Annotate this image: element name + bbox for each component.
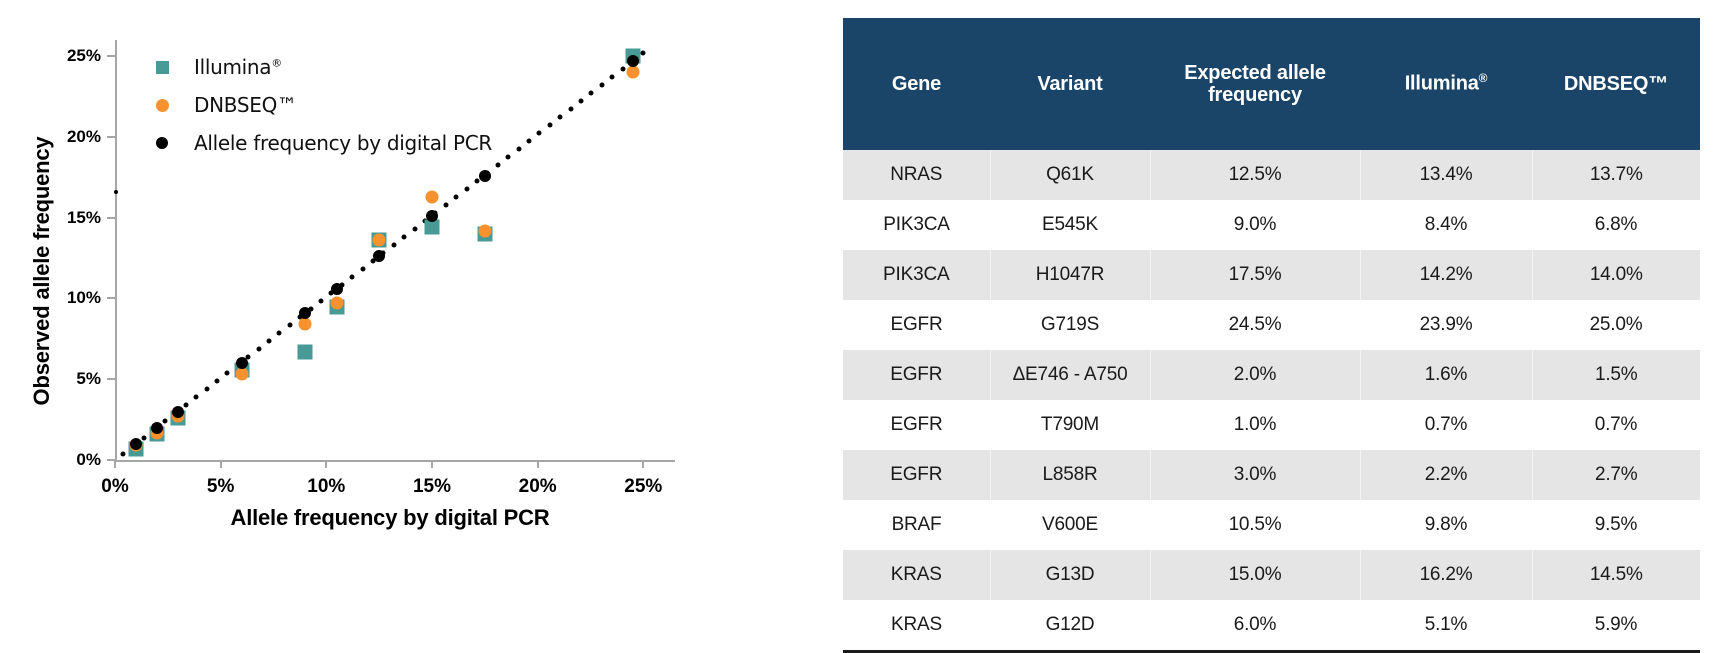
cell-illumina: 14.2% xyxy=(1360,250,1532,300)
trendline-dot xyxy=(516,147,521,152)
cell-dnbseq: 9.5% xyxy=(1532,500,1700,550)
trendline-dot xyxy=(277,331,282,336)
cell-expected: 15.0% xyxy=(1150,550,1360,600)
trendline-dot xyxy=(506,155,511,160)
trendline-dot xyxy=(360,267,365,272)
cell-gene: EGFR xyxy=(843,300,990,350)
cell-expected: 17.5% xyxy=(1150,250,1360,300)
square-marker-icon xyxy=(150,61,174,74)
trendline-dot xyxy=(163,419,168,424)
trendline-dot xyxy=(443,203,448,208)
trendline-dot xyxy=(641,50,646,55)
trendline-dot xyxy=(412,227,417,232)
data-point-square xyxy=(298,344,313,359)
cell-variant: L858R xyxy=(990,450,1150,500)
cell-variant: T790M xyxy=(990,400,1150,450)
table-row: KRASG13D15.0%16.2%14.5% xyxy=(843,550,1700,600)
chart-legend: Illumina® DNBSEQ™ Allele frequency by di… xyxy=(150,48,492,162)
cell-variant: Q61K xyxy=(990,150,1150,200)
column-header-gene: Gene xyxy=(843,18,990,150)
cell-expected: 10.5% xyxy=(1150,500,1360,550)
cell-gene: KRAS xyxy=(843,550,990,600)
table-row: EGFRL858R3.0%2.2%2.7% xyxy=(843,450,1700,500)
trendline-dot xyxy=(526,139,531,144)
table-body: NRASQ61K12.5%13.4%13.7%PIK3CAE545K9.0%8.… xyxy=(843,150,1700,652)
cell-gene: PIK3CA xyxy=(843,200,990,250)
results-table: Gene Variant Expected allelefrequency Il… xyxy=(843,18,1700,653)
trendline-dot xyxy=(287,323,292,328)
cell-gene: BRAF xyxy=(843,500,990,550)
cell-dnbseq: 14.5% xyxy=(1532,550,1700,600)
x-tick-label: 20% xyxy=(519,476,557,498)
data-point-circle xyxy=(478,224,491,237)
scatter-chart: Observed allele frequency Allele frequen… xyxy=(0,0,740,640)
cell-dnbseq: 6.8% xyxy=(1532,200,1700,250)
trendline-dot xyxy=(589,90,594,95)
x-tick-label: 15% xyxy=(413,476,451,498)
y-tick-label: 5% xyxy=(76,369,101,389)
trendline-dot xyxy=(318,299,323,304)
data-point-dot xyxy=(426,210,438,222)
cell-gene: EGFR xyxy=(843,450,990,500)
y-tick xyxy=(107,55,115,57)
y-tick xyxy=(107,378,115,380)
trendline-dot xyxy=(547,123,552,128)
cell-illumina: 1.6% xyxy=(1360,350,1532,400)
cell-dnbseq: 0.7% xyxy=(1532,400,1700,450)
cell-variant: G13D xyxy=(990,550,1150,600)
cell-expected: 1.0% xyxy=(1150,400,1360,450)
legend-label-illumina: Illumina® xyxy=(194,55,282,79)
x-axis-line xyxy=(115,460,675,462)
cell-illumina: 13.4% xyxy=(1360,150,1532,200)
x-tick xyxy=(114,460,116,468)
data-point-dot xyxy=(236,357,248,369)
data-point-circle xyxy=(235,368,248,381)
legend-item-dnbseq: DNBSEQ™ xyxy=(150,86,492,124)
cell-expected: 3.0% xyxy=(1150,450,1360,500)
table-row: NRASQ61K12.5%13.4%13.7% xyxy=(843,150,1700,200)
data-point-dot xyxy=(130,438,142,450)
table-row: BRAFV600E10.5%9.8%9.5% xyxy=(843,500,1700,550)
data-point-dot xyxy=(479,170,491,182)
trendline-dot xyxy=(350,275,355,280)
x-tick-label: 25% xyxy=(624,476,662,498)
table-row: EGFRT790M1.0%0.7%0.7% xyxy=(843,400,1700,450)
y-tick xyxy=(107,136,115,138)
data-point-dot xyxy=(299,307,311,319)
legend-item-illumina: Illumina® xyxy=(150,48,492,86)
x-tick xyxy=(642,460,644,468)
cell-gene: KRAS xyxy=(843,600,990,652)
table-row: PIK3CAE545K9.0%8.4%6.8% xyxy=(843,200,1700,250)
cell-variant: E545K xyxy=(990,200,1150,250)
cell-illumina: 8.4% xyxy=(1360,200,1532,250)
x-tick xyxy=(325,460,327,468)
cell-illumina: 5.1% xyxy=(1360,600,1532,652)
cell-dnbseq: 1.5% xyxy=(1532,350,1700,400)
cell-variant: V600E xyxy=(990,500,1150,550)
trendline-dot xyxy=(256,347,261,352)
cell-expected: 24.5% xyxy=(1150,300,1360,350)
trendline-dot xyxy=(402,235,407,240)
cell-illumina: 16.2% xyxy=(1360,550,1532,600)
cell-expected: 12.5% xyxy=(1150,150,1360,200)
table-row: PIK3CAH1047R17.5%14.2%14.0% xyxy=(843,250,1700,300)
cell-variant: ΔE746 - A750 xyxy=(990,350,1150,400)
data-point-dot xyxy=(627,55,639,67)
data-point-dot xyxy=(373,250,385,262)
data-point-dot xyxy=(172,406,184,418)
x-tick-label: 5% xyxy=(207,476,234,498)
cell-illumina: 9.8% xyxy=(1360,500,1532,550)
y-tick xyxy=(107,297,115,299)
y-tick-label: 25% xyxy=(67,46,101,66)
data-point-circle xyxy=(626,66,639,79)
cell-variant: G12D xyxy=(990,600,1150,652)
y-axis-line xyxy=(115,40,117,462)
cell-expected: 9.0% xyxy=(1150,200,1360,250)
data-point-circle xyxy=(299,318,312,331)
cell-expected: 2.0% xyxy=(1150,350,1360,400)
y-tick-label: 15% xyxy=(67,208,101,228)
y-tick-label: 0% xyxy=(76,450,101,470)
cell-gene: PIK3CA xyxy=(843,250,990,300)
legend-label-digital-pcr: Allele frequency by digital PCR xyxy=(194,131,492,155)
stray-dot xyxy=(114,190,118,194)
trendline-dot xyxy=(610,74,615,79)
cell-illumina: 0.7% xyxy=(1360,400,1532,450)
cell-dnbseq: 25.0% xyxy=(1532,300,1700,350)
trendline-dot xyxy=(204,387,209,392)
column-header-expected-allele-frequency: Expected allelefrequency xyxy=(1150,18,1360,150)
trendline-dot xyxy=(121,451,126,456)
table-header-row: Gene Variant Expected allelefrequency Il… xyxy=(843,18,1700,150)
results-table-panel: Gene Variant Expected allelefrequency Il… xyxy=(843,18,1700,653)
trendline-dot xyxy=(599,82,604,87)
trendline-dot xyxy=(620,66,625,71)
cell-illumina: 23.9% xyxy=(1360,300,1532,350)
y-axis-title: Observed allele frequency xyxy=(29,61,55,481)
x-tick xyxy=(220,460,222,468)
trendline-dot xyxy=(474,179,479,184)
trendline-dot xyxy=(568,107,573,112)
x-tick xyxy=(431,460,433,468)
cell-gene: NRAS xyxy=(843,150,990,200)
trendline-dot xyxy=(495,163,500,168)
trendline-dot xyxy=(267,339,272,344)
x-tick xyxy=(537,460,539,468)
column-header-dnbseq: DNBSEQ™ xyxy=(1532,18,1700,150)
trendline-dot xyxy=(183,403,188,408)
cell-dnbseq: 5.9% xyxy=(1532,600,1700,652)
y-tick-label: 20% xyxy=(67,127,101,147)
figure-root: Observed allele frequency Allele frequen… xyxy=(0,0,1736,640)
trendline-dot xyxy=(537,131,542,136)
column-header-variant: Variant xyxy=(990,18,1150,150)
cell-dnbseq: 13.7% xyxy=(1532,150,1700,200)
data-point-circle xyxy=(373,234,386,247)
legend-label-dnbseq: DNBSEQ™ xyxy=(194,93,297,117)
table-row: EGFRΔE746 - A7502.0%1.6%1.5% xyxy=(843,350,1700,400)
cell-dnbseq: 14.0% xyxy=(1532,250,1700,300)
trendline-dot xyxy=(454,195,459,200)
cell-gene: EGFR xyxy=(843,400,990,450)
trendline-dot xyxy=(464,187,469,192)
data-point-dot xyxy=(151,422,163,434)
circle-marker-icon xyxy=(150,99,174,112)
data-point-square xyxy=(424,220,439,235)
trendline-dot xyxy=(578,98,583,103)
x-axis-title: Allele frequency by digital PCR xyxy=(90,505,690,531)
trendline-dot xyxy=(194,395,199,400)
cell-gene: EGFR xyxy=(843,350,990,400)
y-tick xyxy=(107,217,115,219)
x-tick-label: 0% xyxy=(101,476,128,498)
table-row: KRASG12D6.0%5.1%5.9% xyxy=(843,600,1700,652)
trendline-dot xyxy=(225,371,230,376)
dot-marker-icon xyxy=(150,137,174,149)
column-header-illumina: Illumina® xyxy=(1360,18,1532,150)
cell-expected: 6.0% xyxy=(1150,600,1360,652)
x-tick-label: 10% xyxy=(307,476,345,498)
table-row: EGFRG719S24.5%23.9%25.0% xyxy=(843,300,1700,350)
data-point-circle xyxy=(330,297,343,310)
trendline-dot xyxy=(558,115,563,120)
cell-dnbseq: 2.7% xyxy=(1532,450,1700,500)
data-point-circle xyxy=(425,190,438,203)
y-tick-label: 10% xyxy=(67,288,101,308)
cell-illumina: 2.2% xyxy=(1360,450,1532,500)
trendline-dot xyxy=(142,435,147,440)
trendline-dot xyxy=(215,379,220,384)
cell-variant: H1047R xyxy=(990,250,1150,300)
cell-variant: G719S xyxy=(990,300,1150,350)
legend-item-digital-pcr: Allele frequency by digital PCR xyxy=(150,124,492,162)
trendline-dot xyxy=(391,243,396,248)
data-point-dot xyxy=(331,283,343,295)
